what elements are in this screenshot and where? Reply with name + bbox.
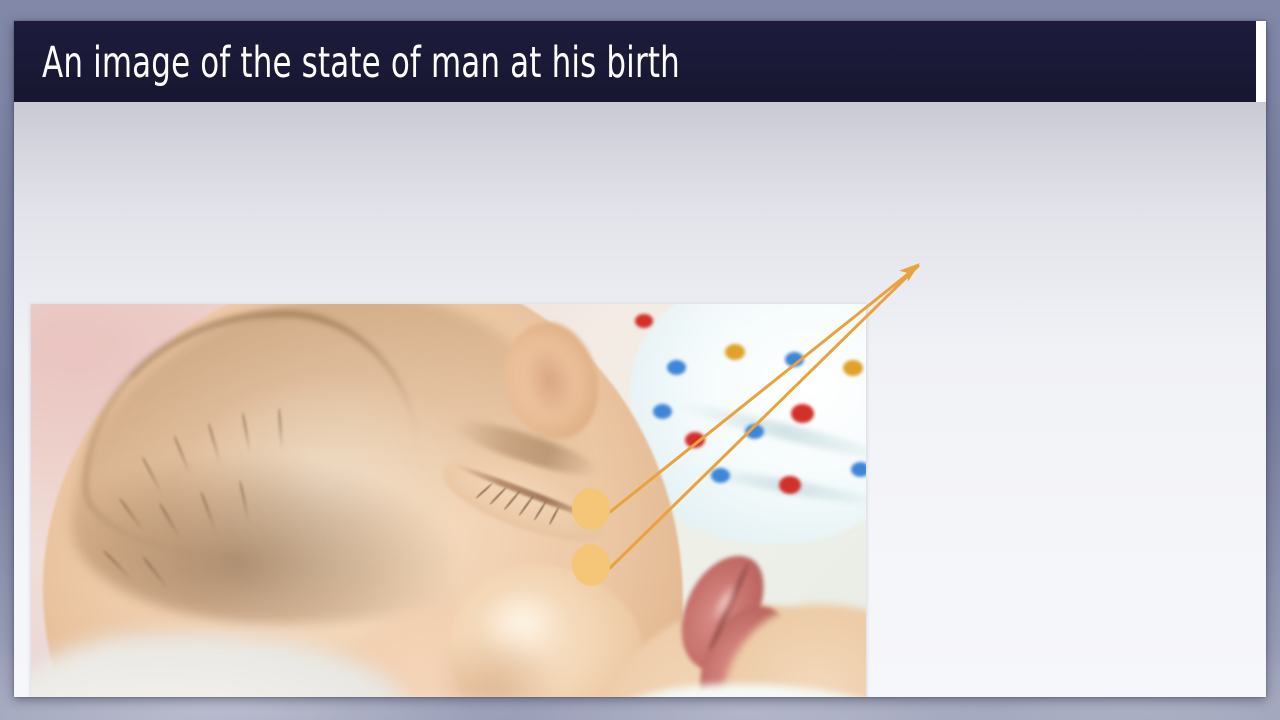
bib-dot [711, 468, 730, 483]
baby-photo [31, 304, 866, 697]
bib-dot [843, 360, 863, 376]
presentation-stage: An image of the state of man at his birt… [0, 0, 1280, 720]
page-title: An image of the state of man at his birt… [42, 37, 680, 89]
bib-dot [667, 360, 686, 375]
bib-dot [779, 476, 801, 494]
bib-dot [851, 462, 866, 477]
slide: An image of the state of man at his birt… [14, 21, 1266, 697]
bib-dot [725, 344, 745, 360]
slide-content-area [14, 102, 1266, 697]
bib-dot [745, 424, 764, 439]
bib-dot [635, 314, 653, 328]
photo-frame [31, 304, 866, 697]
bib-dot [653, 404, 672, 419]
bib-dot [791, 404, 814, 423]
slide-title-bar: An image of the state of man at his birt… [14, 21, 1256, 102]
bib-dot [685, 432, 705, 448]
bib-dot [785, 352, 804, 367]
